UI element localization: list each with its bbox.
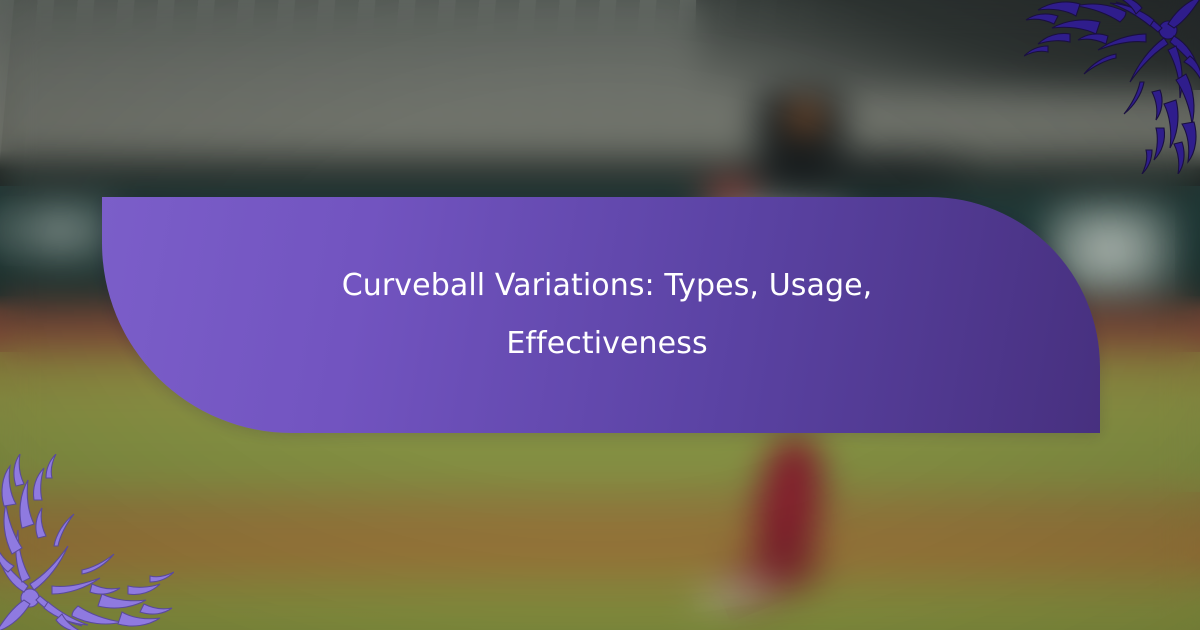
page-title: Curveball Variations: Types, Usage, Effe…: [286, 257, 916, 373]
title-banner: Curveball Variations: Types, Usage, Effe…: [102, 197, 1100, 433]
floral-corner-ornament-icon: [0, 454, 174, 630]
floral-corner-ornament-icon: [1024, 0, 1200, 174]
